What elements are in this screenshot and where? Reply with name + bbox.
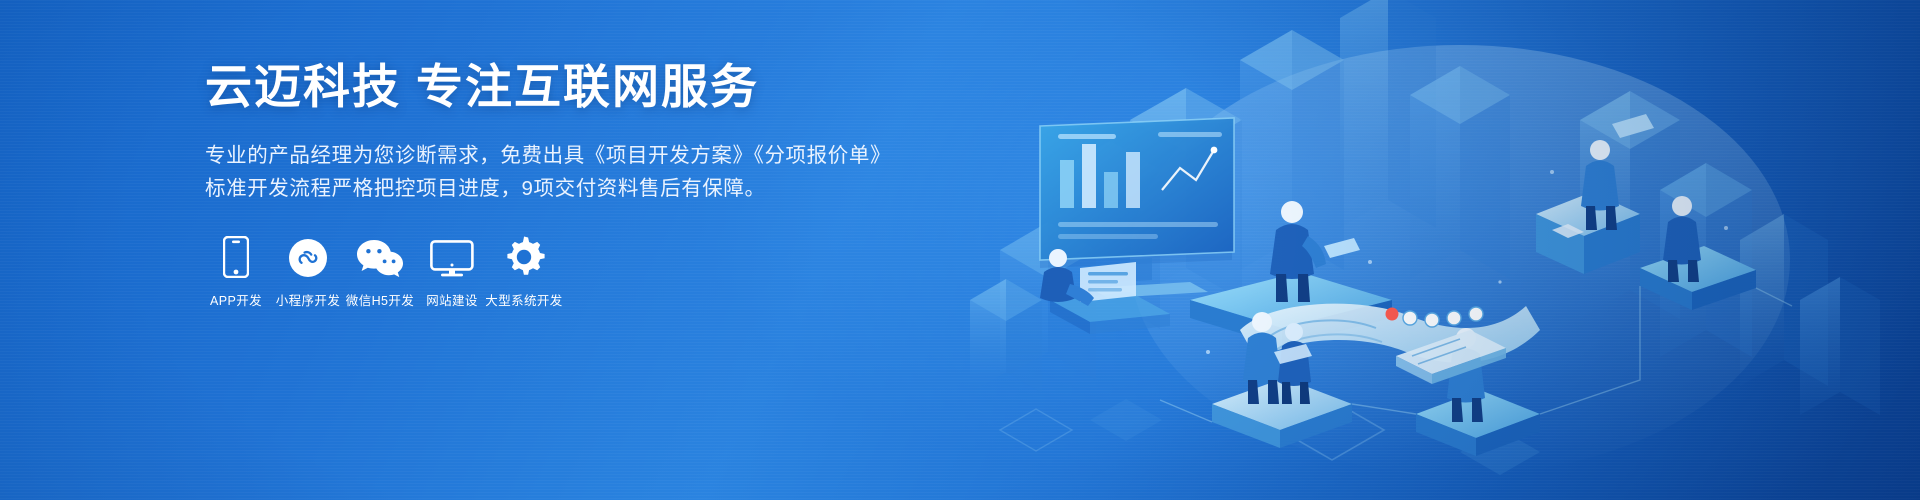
hero-copy: 云迈科技 专注互联网服务 专业的产品经理为您诊断需求，免费出具《项目开发方案》《… xyxy=(205,62,965,205)
page-title: 云迈科技 专注互联网服务 xyxy=(205,62,965,113)
service-label-website: 网站建设 xyxy=(426,290,478,309)
hero-banner: 云迈科技 专注互联网服务 专业的产品经理为您诊断需求，免费出具《项目开发方案》《… xyxy=(0,0,1920,500)
isometric-illustration xyxy=(940,0,1920,500)
service-label-wechat-h5: 微信H5开发 xyxy=(346,290,414,309)
gear-icon xyxy=(503,232,545,278)
service-label-mini-program: 小程序开发 xyxy=(276,290,341,309)
hero-subtitle-line-2: 标准开发流程严格把控项目进度，9项交付资料售后有保障。 xyxy=(205,172,965,205)
service-item-mini-program[interactable]: 小程序开发 xyxy=(272,232,344,309)
service-item-wechat-h5[interactable]: 微信H5开发 xyxy=(344,232,416,309)
service-item-app[interactable]: APP开发 xyxy=(200,232,272,309)
monitor-icon xyxy=(430,232,474,278)
service-item-website[interactable]: 网站建设 xyxy=(416,232,488,309)
hero-subtitle: 专业的产品经理为您诊断需求，免费出具《项目开发方案》《分项报价单》 标准开发流程… xyxy=(205,139,965,205)
wechat-icon xyxy=(356,232,404,278)
service-label-large-system: 大型系统开发 xyxy=(485,290,562,309)
hero-subtitle-line-1: 专业的产品经理为您诊断需求，免费出具《项目开发方案》《分项报价单》 xyxy=(205,139,965,172)
service-icon-row: APP开发 小程序开发 xyxy=(200,232,560,309)
service-label-app: APP开发 xyxy=(210,290,262,309)
mini-program-icon xyxy=(288,232,328,278)
service-item-large-system[interactable]: 大型系统开发 xyxy=(488,232,560,309)
phone-icon xyxy=(223,232,249,278)
